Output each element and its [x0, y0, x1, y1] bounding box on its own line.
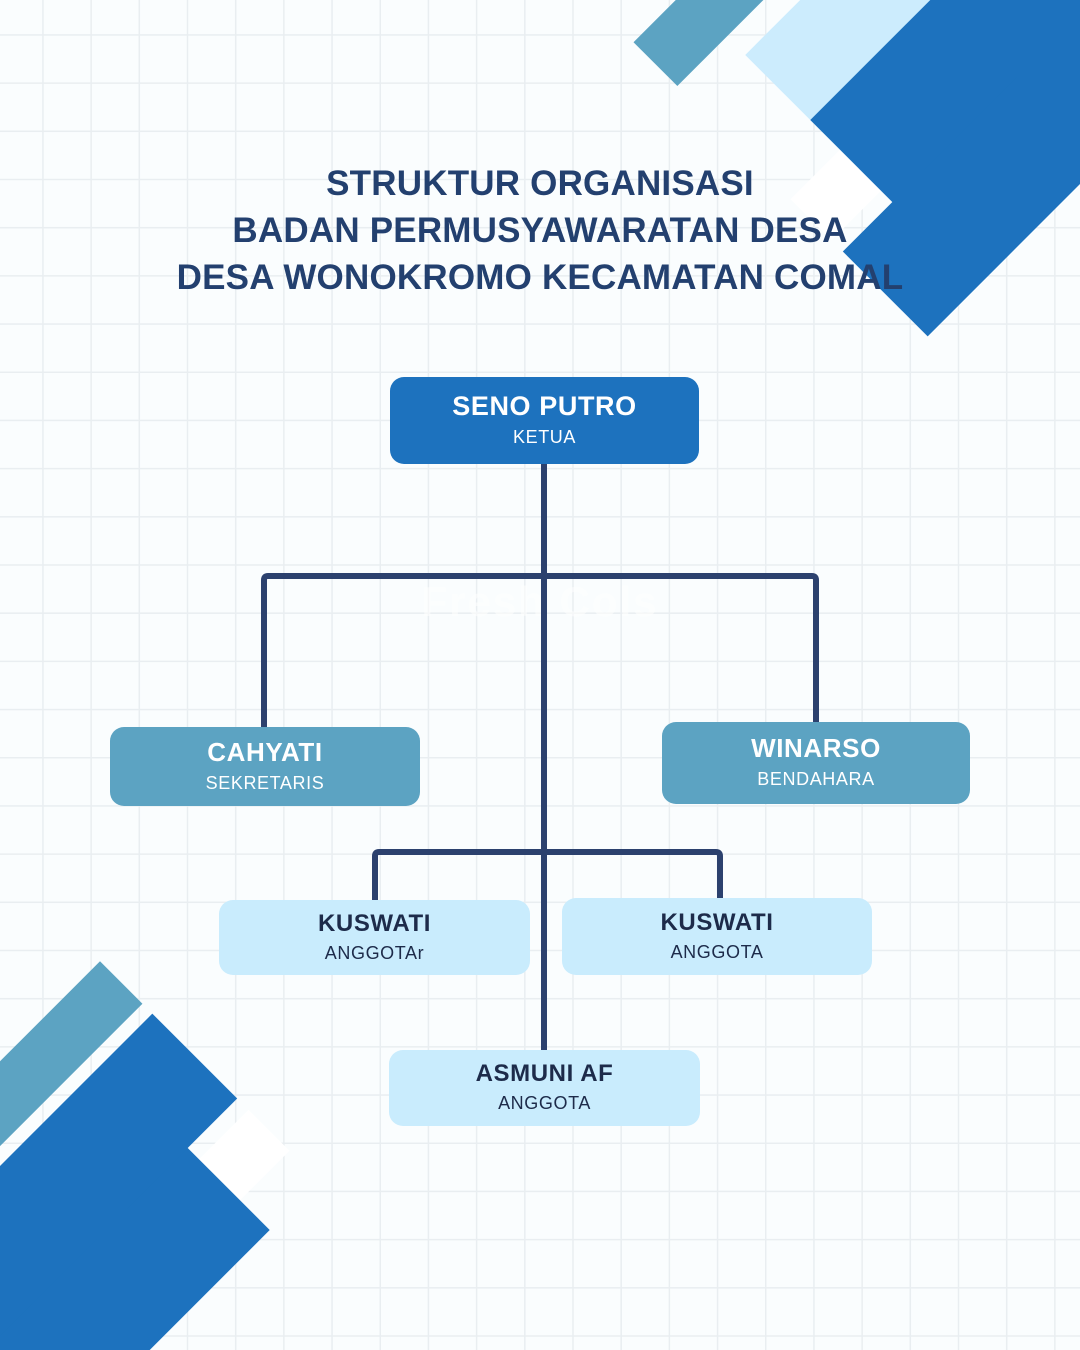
node-bendahara-role: BENDAHARA	[757, 769, 874, 791]
node-ketua[interactable]: SENO PUTRO KETUA	[390, 377, 699, 464]
node-ketua-role: KETUA	[513, 427, 576, 449]
node-anggota-1-name: KUSWATI	[318, 911, 431, 936]
node-bendahara-name: WINARSO	[751, 735, 881, 762]
node-sekretaris[interactable]: CAHYATI SEKRETARIS	[110, 727, 420, 806]
node-anggota-3-role: ANGGOTA	[498, 1093, 591, 1115]
node-anggota-2-role: ANGGOTA	[671, 942, 764, 964]
title-line-3: DESA WONOKROMO KECAMATAN COMAL	[0, 254, 1080, 301]
node-ketua-name: SENO PUTRO	[452, 392, 637, 420]
connector-level2-bus	[375, 852, 720, 900]
node-anggota-3[interactable]: ASMUNI AF ANGGOTA	[389, 1050, 700, 1126]
title-line-2: BADAN PERMUSYAWARATAN DESA	[0, 207, 1080, 254]
node-sekretaris-role: SEKRETARIS	[206, 773, 325, 795]
page-title: STRUKTUR ORGANISASI BADAN PERMUSYAWARATA…	[0, 160, 1080, 301]
node-sekretaris-name: CAHYATI	[207, 739, 322, 766]
connector-level1-bus	[264, 576, 816, 727]
node-anggota-1[interactable]: KUSWATI ANGGOTAr	[219, 900, 530, 975]
org-chart-poster: STRUKTUR ORGANISASI BADAN PERMUSYAWARATA…	[0, 0, 1080, 1350]
title-line-1: STRUKTUR ORGANISASI	[0, 160, 1080, 207]
node-anggota-3-name: ASMUNI AF	[476, 1061, 614, 1086]
node-anggota-2-name: KUSWATI	[660, 910, 773, 935]
node-bendahara[interactable]: WINARSO BENDAHARA	[662, 722, 970, 804]
node-anggota-1-role: ANGGOTAr	[325, 943, 424, 965]
node-anggota-2[interactable]: KUSWATI ANGGOTA	[562, 898, 872, 975]
